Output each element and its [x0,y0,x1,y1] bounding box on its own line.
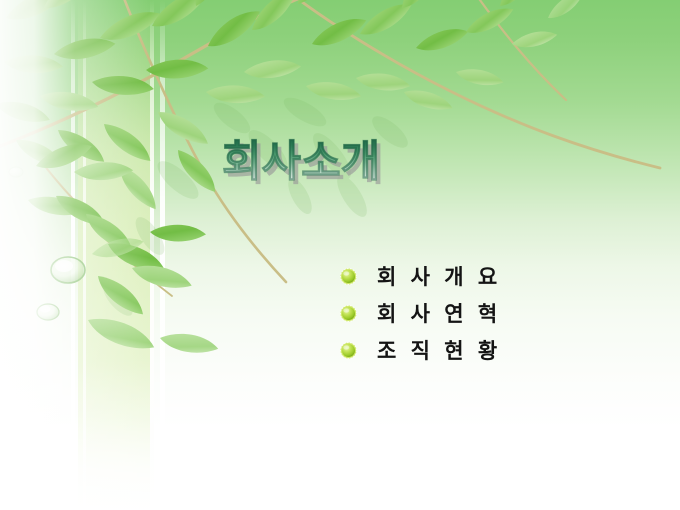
slide-title-outline: 회사소개 [222,138,380,186]
bullet-sphere-icon [340,305,357,322]
agenda-item-3[interactable]: 조 직 현 황 [340,332,620,369]
agenda-item-label: 조 직 현 황 [377,339,501,363]
bullet-sphere-icon [340,268,357,285]
agenda-item-1[interactable]: 회 사 개 요 [340,258,620,295]
slide-title: 회사소개 회사소개 회사소개 [222,138,552,194]
bottom-white-fade [0,0,680,510]
bullet-sphere-icon [340,342,357,359]
presentation-slide: 회사소개 회사소개 회사소개 회 사 개 요 [0,0,680,510]
agenda-item-2[interactable]: 회 사 연 혁 [340,295,620,332]
agenda-item-label: 회 사 연 혁 [377,302,501,326]
agenda-item-label: 회 사 개 요 [377,265,501,289]
agenda-list: 회 사 개 요 회 사 연 혁 [340,258,620,369]
